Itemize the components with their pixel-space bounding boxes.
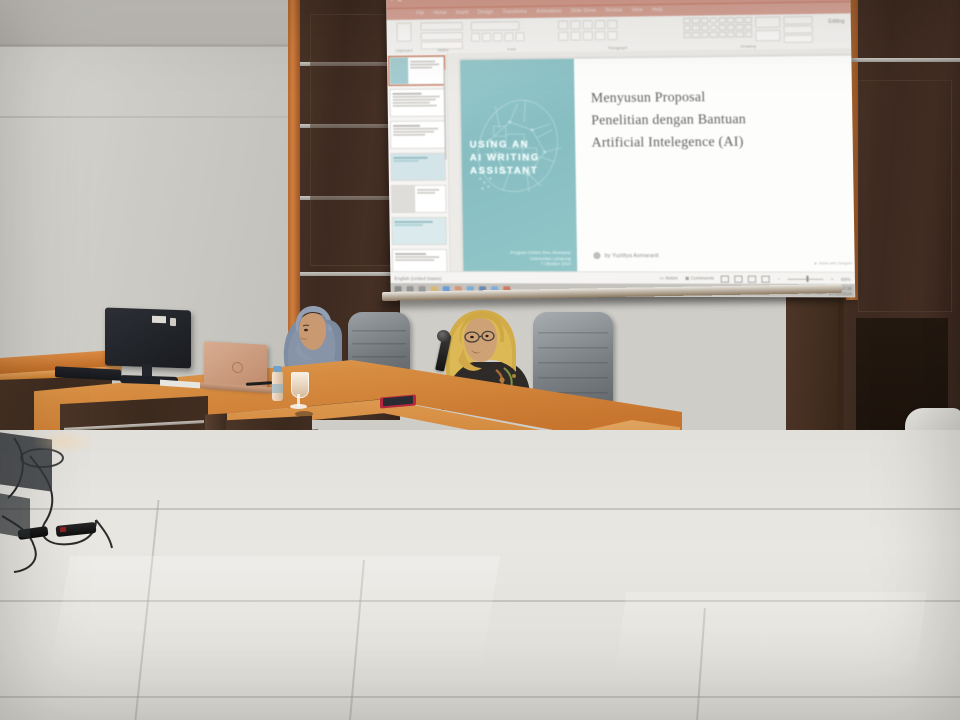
shape-circle-icon[interactable] bbox=[709, 24, 717, 30]
thumb-1-text bbox=[408, 57, 444, 83]
slide-editing-stage[interactable]: USING AN AI WRITING ASSISTANT Program Do… bbox=[449, 53, 850, 267]
tab-insert[interactable]: Insert bbox=[456, 10, 469, 16]
shape-hexagon-icon[interactable] bbox=[727, 24, 735, 30]
floor-reflection-right bbox=[614, 592, 927, 684]
shape-rectangle-icon[interactable] bbox=[683, 18, 691, 24]
thumbnail-slide-6[interactable] bbox=[391, 217, 447, 245]
font-name-combo[interactable] bbox=[471, 21, 520, 31]
slide-title-textbox[interactable]: Menyusun Proposal Penelitian dengan Bant… bbox=[591, 84, 846, 153]
shape-parallelogram-icon[interactable] bbox=[692, 25, 700, 31]
arrange-button[interactable] bbox=[755, 16, 780, 28]
book-title-line-3: ASSISTANT bbox=[470, 164, 568, 178]
power-strip-switch bbox=[60, 527, 66, 533]
shapes-gallery[interactable] bbox=[683, 17, 752, 38]
ribbon-group-font[interactable]: Font bbox=[471, 19, 553, 52]
thumb-3-text bbox=[391, 122, 445, 148]
shape-scribble-icon[interactable] bbox=[701, 32, 709, 38]
shape-triangle-icon[interactable] bbox=[683, 25, 691, 31]
wood-panel-inset-right bbox=[858, 80, 952, 312]
layout-button[interactable] bbox=[421, 31, 463, 40]
editing-group-label[interactable]: Editing bbox=[828, 19, 844, 25]
ribbon-group-slides[interactable]: Slides bbox=[420, 20, 465, 53]
lens-flare bbox=[32, 430, 96, 454]
shape-fill-button[interactable] bbox=[783, 16, 813, 24]
wood-trim-4 bbox=[300, 272, 398, 276]
align-center-button[interactable] bbox=[570, 31, 580, 40]
font-style-row[interactable] bbox=[471, 32, 552, 42]
thumb-7-text bbox=[393, 250, 447, 272]
undo-icon[interactable]: ↶ bbox=[405, 0, 409, 3]
underline-button[interactable] bbox=[493, 32, 502, 41]
book-cover-footer: Program Doktor Ilmu Akuntansi Universita… bbox=[469, 250, 571, 267]
bold-button[interactable] bbox=[471, 33, 480, 42]
justify-button[interactable] bbox=[595, 31, 605, 40]
strikethrough-button[interactable] bbox=[515, 32, 524, 41]
drawing-label-text: Drawing bbox=[741, 43, 756, 48]
thumbnail-slide-2[interactable] bbox=[389, 88, 445, 117]
wall-seam-mid bbox=[0, 116, 300, 118]
book-footer-line-3: 7 Oktober 2024 bbox=[469, 262, 571, 268]
thumbnail-slide-4[interactable] bbox=[390, 153, 446, 181]
wall-seam-top bbox=[0, 44, 300, 47]
thumbnail-slide-7[interactable] bbox=[392, 249, 448, 272]
thumbnail-slide-3[interactable] bbox=[390, 121, 446, 149]
powerpoint-workspace: USING AN AI WRITING ASSISTANT Program Do… bbox=[387, 48, 855, 272]
new-slide-button[interactable] bbox=[420, 22, 462, 31]
thumb-4-text bbox=[391, 154, 445, 180]
shape-line-icon[interactable] bbox=[692, 18, 700, 24]
autosave-toggle[interactable]: ⟳ bbox=[390, 0, 394, 3]
notes-button[interactable]: ▭ Notes bbox=[659, 275, 677, 281]
slideshow-icon[interactable] bbox=[762, 275, 770, 282]
redo-icon[interactable]: ↷ bbox=[412, 0, 416, 3]
shape-outline-button[interactable] bbox=[783, 25, 813, 33]
tab-help[interactable]: Help bbox=[652, 7, 663, 13]
save-icon[interactable]: ▤ bbox=[397, 0, 402, 3]
left-wall-upper bbox=[0, 0, 300, 46]
thumbnail-slide-1[interactable] bbox=[389, 56, 445, 85]
slide-title-line-3: Artificial Intelegence (AI) bbox=[591, 130, 845, 154]
shapes-more-icon[interactable] bbox=[744, 31, 752, 37]
slide-title-line-2: Penelitian dengan Bantuan bbox=[591, 107, 845, 131]
shadow-button[interactable] bbox=[504, 32, 513, 41]
shape-oval-icon[interactable] bbox=[709, 17, 717, 23]
bullets-button[interactable] bbox=[558, 20, 568, 29]
shape-diamond-icon[interactable] bbox=[718, 17, 726, 23]
columns-button[interactable] bbox=[607, 31, 617, 40]
tab-review[interactable]: Review bbox=[605, 8, 622, 14]
tile-seam-3 bbox=[0, 696, 960, 698]
byline-text: by Yuztitya Asmaranti bbox=[605, 253, 659, 259]
slide-sorter-icon[interactable] bbox=[735, 275, 743, 282]
water-bottle-label bbox=[272, 384, 283, 393]
drinking-glass bbox=[291, 372, 309, 398]
slide-title-line-1: Menyusun Proposal bbox=[591, 84, 845, 109]
shape-connector-icon[interactable] bbox=[710, 32, 718, 38]
shape-elbow-icon[interactable] bbox=[718, 32, 726, 38]
tab-file[interactable]: File bbox=[416, 10, 424, 16]
office-chair-right-seams bbox=[538, 332, 608, 394]
increase-indent-button[interactable] bbox=[595, 20, 605, 29]
shape-chevron-icon[interactable] bbox=[736, 17, 744, 23]
comments-label: Comments bbox=[691, 276, 714, 281]
glass-foot bbox=[290, 404, 307, 409]
current-slide[interactable]: USING AN AI WRITING ASSISTANT Program Do… bbox=[460, 55, 855, 275]
designer-icon: ◈ bbox=[814, 261, 817, 265]
ribbon-group-paragraph[interactable]: Paragraph bbox=[558, 17, 678, 51]
tab-transitions[interactable]: Transitions bbox=[502, 9, 527, 15]
byline-avatar-icon bbox=[593, 252, 600, 259]
ribbon-group-clipboard[interactable]: Clipboard bbox=[390, 21, 417, 53]
align-right-button[interactable] bbox=[583, 31, 593, 40]
shape-effects-button[interactable] bbox=[784, 34, 814, 42]
zoom-slider[interactable] bbox=[788, 278, 824, 279]
font-group-label: Font bbox=[471, 46, 552, 52]
view-switcher[interactable] bbox=[721, 275, 770, 282]
clipboard-group-label: Clipboard bbox=[391, 48, 417, 53]
book-cover-title: USING AN AI WRITING ASSISTANT bbox=[470, 138, 568, 178]
decrease-indent-button[interactable] bbox=[582, 20, 592, 29]
quick-styles-button[interactable] bbox=[755, 30, 780, 42]
notes-label: Notes bbox=[665, 275, 678, 280]
paragraph-row-2[interactable] bbox=[558, 30, 677, 41]
zoom-level-label[interactable]: 68% bbox=[841, 276, 851, 281]
wood-trim-r1 bbox=[848, 58, 960, 62]
ribbon-group-drawing[interactable]: Drawing bbox=[683, 15, 813, 49]
status-right-cluster[interactable]: ▭ Notes ▣ Comments − + 68% bbox=[659, 275, 855, 283]
paragraph-row-1[interactable] bbox=[558, 19, 677, 30]
status-language[interactable]: English (United States) bbox=[390, 276, 441, 281]
tab-animations[interactable]: Animations bbox=[536, 8, 561, 14]
water-bottle-cap bbox=[273, 366, 282, 372]
thumb-6-text bbox=[392, 218, 446, 244]
designer-credit-text: Made with Designer bbox=[819, 261, 853, 265]
tab-home[interactable]: Home bbox=[433, 10, 447, 16]
book-title-line-2: AI WRITING bbox=[470, 151, 568, 165]
zoom-slider-knob[interactable] bbox=[807, 276, 809, 282]
slide-book-cover-image[interactable]: USING AN AI WRITING ASSISTANT Program Do… bbox=[460, 59, 577, 276]
line-spacing-button[interactable] bbox=[607, 20, 617, 29]
shape-arrow-icon[interactable] bbox=[701, 17, 709, 23]
shape-freeform-icon[interactable] bbox=[692, 32, 700, 38]
desktop-monitor bbox=[105, 307, 191, 368]
align-left-button[interactable] bbox=[558, 32, 568, 41]
slide-byline[interactable]: by Yuztitya Asmaranti bbox=[593, 252, 658, 259]
microphone-head bbox=[437, 330, 450, 342]
seminar-room-photo: ⟳ ▤ ↶ ↷ File Home Insert Design Transiti… bbox=[0, 0, 960, 720]
thumbnail-slide-5[interactable] bbox=[391, 185, 447, 213]
thumb-1-image bbox=[390, 58, 408, 84]
quick-access-toolbar[interactable]: ⟳ ▤ ↶ ↷ bbox=[390, 0, 416, 3]
numbering-button[interactable] bbox=[570, 20, 580, 29]
wood-panel-inset-left bbox=[310, 14, 392, 266]
tab-view[interactable]: View bbox=[631, 7, 642, 13]
thumb-5-text bbox=[415, 186, 445, 212]
floor-mat-dark-2 bbox=[0, 493, 30, 538]
shape-plus-icon[interactable] bbox=[744, 24, 752, 30]
slide-thumbnail-pane[interactable] bbox=[387, 53, 451, 272]
comments-button[interactable]: ▣ Comments bbox=[685, 276, 714, 282]
shape-curve-icon[interactable] bbox=[684, 32, 692, 38]
zoom-out-button[interactable]: − bbox=[777, 276, 780, 281]
italic-button[interactable] bbox=[482, 33, 491, 42]
thumb-5-image bbox=[392, 186, 416, 212]
projection-screen: ⟳ ▤ ↶ ↷ File Home Insert Design Transiti… bbox=[386, 0, 855, 297]
shape-flowchart-icon[interactable] bbox=[736, 31, 744, 37]
shape-callout-icon[interactable] bbox=[744, 17, 752, 23]
slide-designer-credit: ◈ Made with Designer bbox=[814, 261, 853, 265]
slides-group-label: Slides bbox=[421, 47, 465, 53]
normal-view-icon[interactable] bbox=[721, 275, 729, 282]
shape-banner-icon[interactable] bbox=[736, 24, 744, 30]
shape-star-icon[interactable] bbox=[718, 24, 726, 30]
thumb-2-text bbox=[390, 89, 444, 116]
shape-pentagon-icon[interactable] bbox=[727, 17, 735, 23]
monitor-label-sticker bbox=[152, 316, 166, 323]
zoom-in-button[interactable]: + bbox=[831, 276, 834, 281]
monitor-port-sticker bbox=[170, 318, 176, 326]
reading-view-icon[interactable] bbox=[748, 275, 756, 282]
shape-block-arrow-icon[interactable] bbox=[727, 31, 735, 37]
paste-button[interactable] bbox=[396, 23, 411, 42]
book-title-line-1: USING AN bbox=[470, 138, 568, 152]
shape-trapezoid-icon[interactable] bbox=[701, 25, 709, 31]
tab-design[interactable]: Design bbox=[478, 9, 494, 15]
tab-slide-show[interactable]: Slide Show bbox=[571, 8, 597, 14]
laptop-logo-icon bbox=[232, 362, 243, 374]
